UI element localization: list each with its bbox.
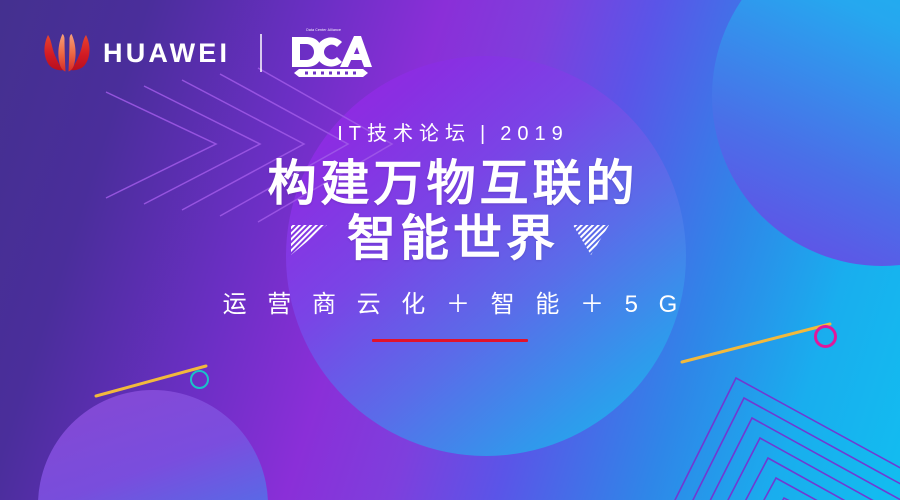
- logo-divider: [260, 34, 262, 72]
- circle-bottom-left: [38, 390, 268, 500]
- headline-line-1: 构建万物互联的: [0, 158, 900, 211]
- dca-logo-icon: Data Center Alliance: [288, 29, 372, 77]
- main-content: IT技术论坛|2019 构建万物互联的 智能世界: [0, 122, 900, 342]
- subtitle-text: 运 营 商 云 化 ＋ 智 能 ＋ 5 G: [0, 291, 900, 320]
- eyebrow-year: 2019: [500, 123, 569, 145]
- huawei-wordmark: HUAWEI: [103, 40, 230, 67]
- subtitle-underline: [372, 339, 528, 342]
- teal-ring-icon: [190, 370, 209, 389]
- poster-canvas: HUAWEI: [0, 0, 900, 500]
- event-eyebrow: IT技术论坛|2019: [0, 122, 900, 146]
- logo-header: HUAWEI: [42, 28, 372, 78]
- dca-tagline: Data Center Alliance: [306, 28, 341, 32]
- huawei-flower-logo-icon: [42, 32, 92, 74]
- striped-triangle-left-icon: [289, 223, 329, 257]
- headline-line-2: 智能世界: [341, 213, 559, 267]
- eyebrow-left: IT技术论坛: [337, 123, 471, 145]
- headline-line-2-row: 智能世界: [0, 213, 900, 267]
- striped-triangle-right-icon: [571, 223, 611, 257]
- eyebrow-separator: |: [471, 123, 500, 145]
- chevrons-bottom-right-icon: [648, 368, 900, 500]
